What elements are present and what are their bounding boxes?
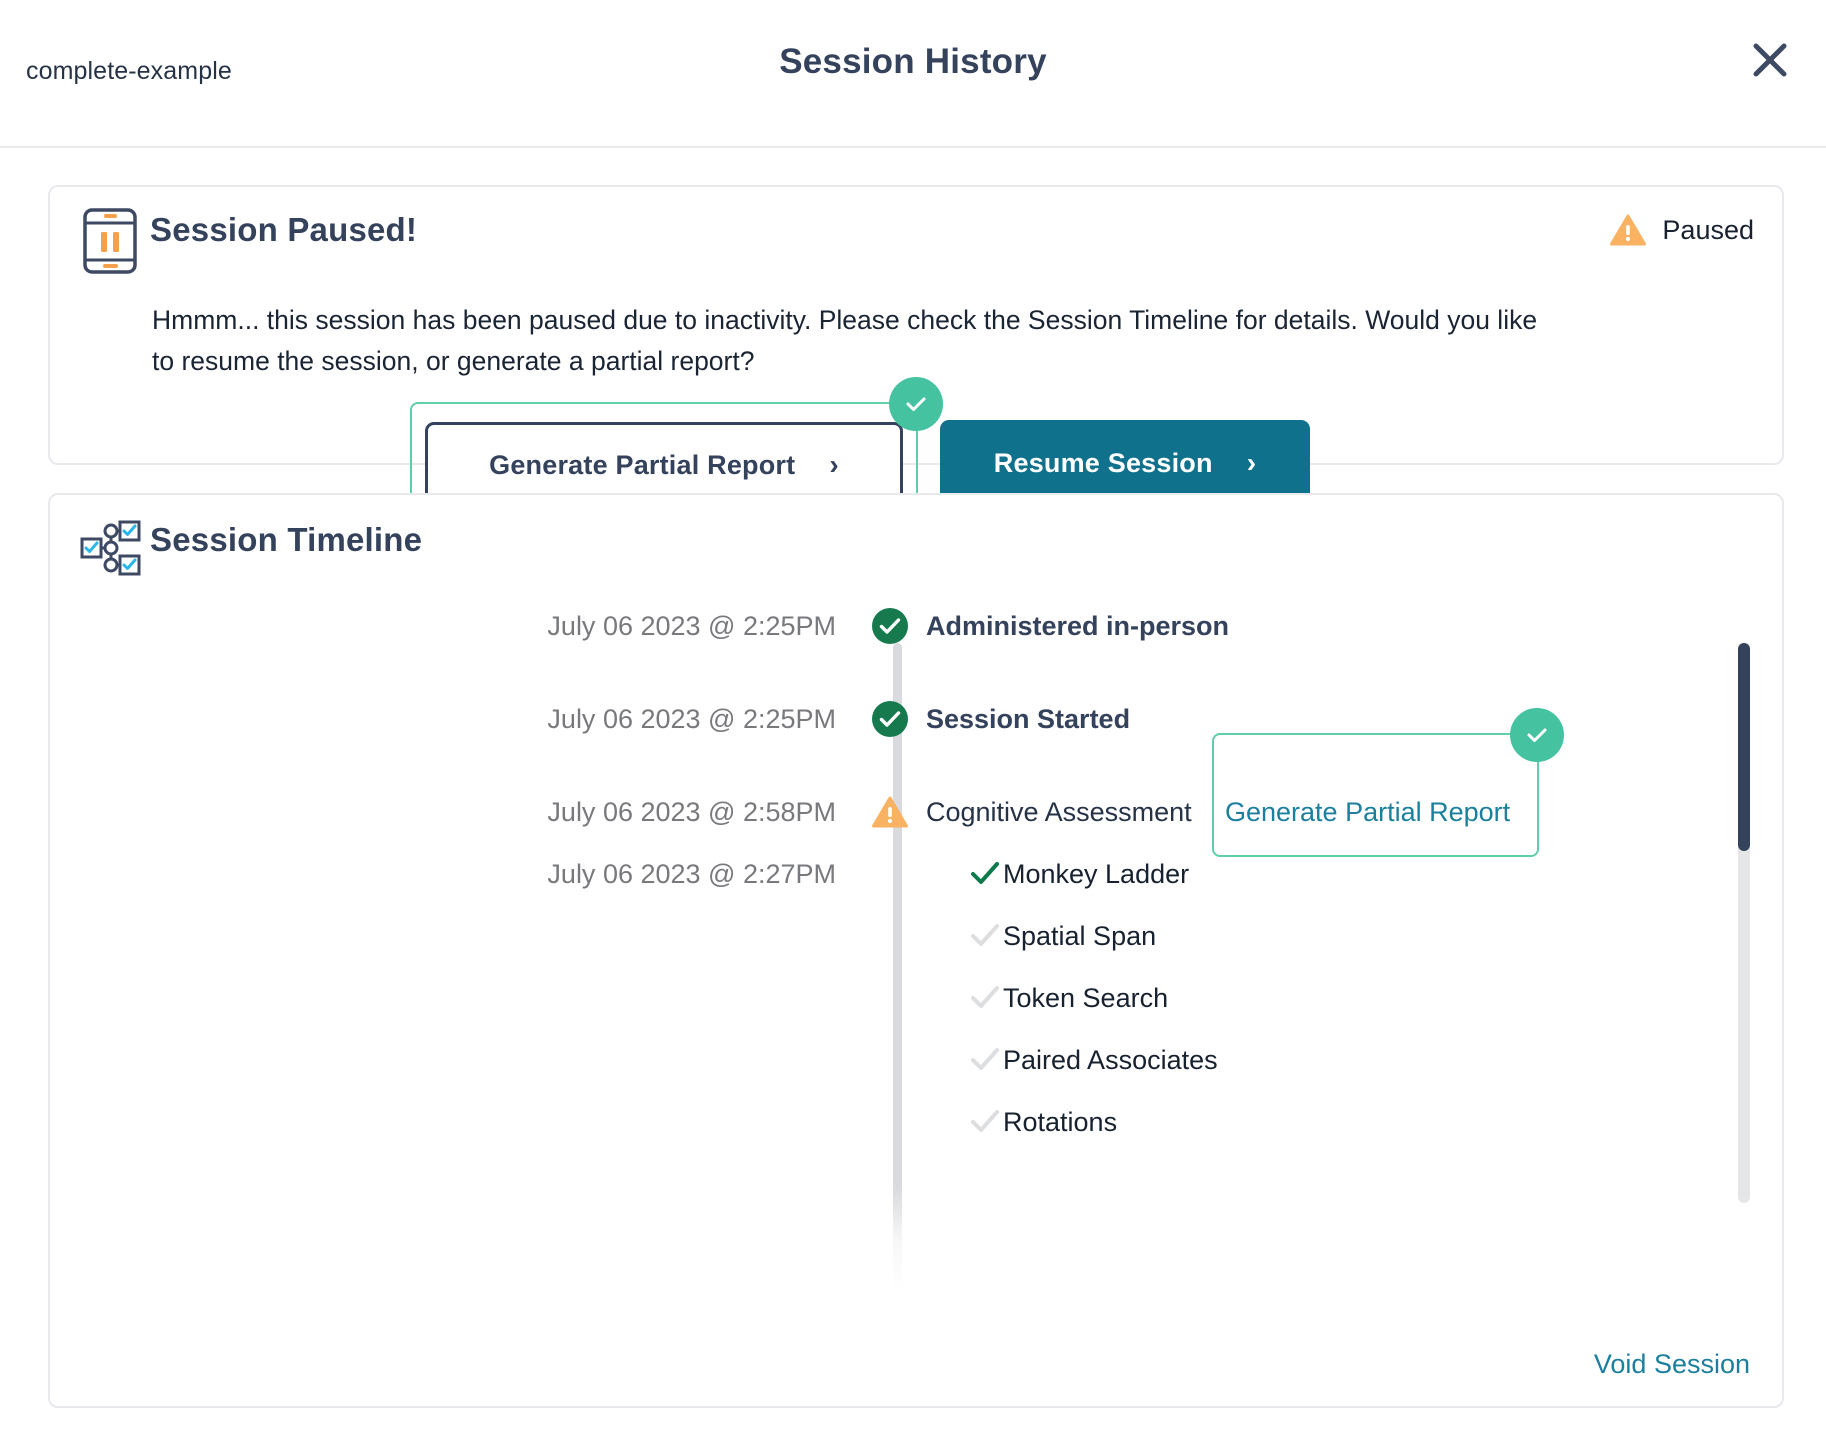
timeline-label: Session Started: [920, 704, 1130, 735]
check-icon: [1522, 720, 1552, 750]
timeline-row[interactable]: July 06 2023 @ 2:25PM Administered in-pe…: [50, 595, 1784, 657]
session-paused-card: Session Paused! Paused Hmmm... this sess…: [48, 185, 1784, 465]
session-timeline-card: Session Timeline July 06 2023 @ 2:25PM A…: [48, 493, 1784, 1408]
timeline-scrollbar-track[interactable]: [1738, 643, 1750, 1203]
timeline-subtask-label: Token Search: [1003, 983, 1168, 1014]
timeline-date: July 06 2023 @ 2:58PM: [50, 797, 860, 828]
page-title: Session History: [0, 42, 1826, 82]
check-circle-filled-icon: [860, 700, 920, 738]
timeline-subtask-row[interactable]: Paired Associates: [50, 1029, 1784, 1091]
check-icon-pending: [967, 1109, 1003, 1135]
close-icon: [1750, 40, 1790, 80]
warning-triangle-icon: [1610, 214, 1646, 246]
check-icon-pending: [967, 1047, 1003, 1073]
session-timeline-title: Session Timeline: [150, 521, 422, 559]
timeline-date: July 06 2023 @ 2:27PM: [50, 859, 860, 890]
timeline-scrollbar-thumb[interactable]: [1738, 643, 1750, 851]
timeline-subtask-label: Paired Associates: [1003, 1045, 1218, 1076]
close-button[interactable]: [1736, 26, 1804, 94]
session-paused-body: Hmmm... this session has been paused due…: [152, 300, 1552, 382]
timeline-subtask-label: Spatial Span: [1003, 921, 1156, 952]
timeline-subtask-row[interactable]: Token Search: [50, 967, 1784, 1029]
generate-partial-report-label: Generate Partial Report: [489, 450, 795, 481]
void-session-link[interactable]: Void Session: [1594, 1349, 1750, 1380]
timeline-label: Administered in-person: [920, 611, 1229, 642]
session-paused-title: Session Paused!: [150, 211, 417, 249]
highlight-check-badge: [1510, 708, 1564, 762]
status-badge-label: Paused: [1662, 215, 1754, 246]
warning-triangle-icon: [860, 796, 920, 828]
timeline-subtask-label: Monkey Ladder: [1003, 859, 1189, 890]
timeline-generate-partial-report-link[interactable]: Generate Partial Report: [1225, 781, 1510, 843]
check-icon: [901, 389, 931, 419]
timeline-subtask-row[interactable]: Rotations: [50, 1091, 1784, 1153]
chevron-right-icon: ›: [829, 451, 839, 479]
timeline-subtask-label: Rotations: [1003, 1107, 1117, 1138]
timeline-row[interactable]: July 06 2023 @ 2:58PM Cognitive Assessme…: [50, 781, 1784, 843]
modal-header: complete-example Session History: [0, 0, 1826, 148]
resume-session-label: Resume Session: [994, 448, 1213, 479]
session-timeline-header: Session Timeline: [50, 495, 1782, 605]
check-icon-pending: [967, 985, 1003, 1011]
session-paused-header: Session Paused! Paused: [50, 187, 1782, 291]
tablet-pause-icon: [82, 207, 138, 280]
scroll-fade-overlay: [50, 1187, 1784, 1307]
chevron-right-icon: ›: [1247, 449, 1257, 477]
timeline-subtask-row[interactable]: Spatial Span: [50, 905, 1784, 967]
check-icon-done: [967, 861, 1003, 887]
check-circle-filled-icon: [860, 607, 920, 645]
check-icon-pending: [967, 923, 1003, 949]
timeline-scroll-area[interactable]: July 06 2023 @ 2:25PM Administered in-pe…: [50, 595, 1784, 1307]
highlight-check-badge: [889, 377, 943, 431]
timeline-date: July 06 2023 @ 2:25PM: [50, 704, 860, 735]
timeline-checklist-icon: [80, 519, 142, 582]
status-badge: Paused: [1610, 214, 1754, 246]
timeline-date: July 06 2023 @ 2:25PM: [50, 611, 860, 642]
timeline-label: Cognitive Assessment: [920, 797, 1192, 828]
